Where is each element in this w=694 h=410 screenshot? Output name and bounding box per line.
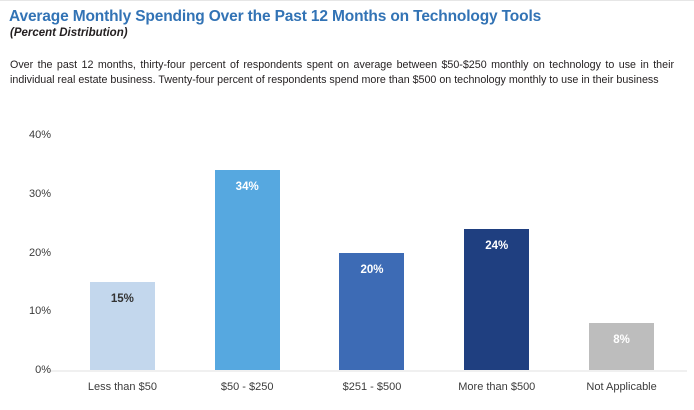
y-axis-tick: 30% (29, 188, 51, 200)
bar[interactable]: 20% (339, 253, 404, 371)
chart-description: Over the past 12 months, thirty-four per… (10, 58, 674, 89)
x-axis-label: $50 - $250 (185, 381, 310, 393)
bar-category: 8% (559, 135, 684, 370)
bar-chart: 40%30%20%10%0% 15%34%20%24%8% Less than … (0, 121, 694, 410)
bar-value-label: 15% (90, 293, 155, 305)
y-axis-tick: 40% (29, 129, 51, 141)
x-axis-label: Not Applicable (559, 381, 684, 393)
chart-page: Average Monthly Spending Over the Past 1… (0, 1, 694, 410)
x-axis-labels: Less than $50$50 - $250$251 - $500More t… (60, 381, 684, 393)
bar-category: 34% (185, 135, 310, 370)
axis-baseline (47, 370, 687, 372)
bar-value-label: 24% (464, 240, 529, 252)
x-axis-label: $251 - $500 (310, 381, 435, 393)
page-subtitle: (Percent Distribution) (10, 27, 128, 39)
bar-value-label: 20% (339, 264, 404, 276)
bar[interactable]: 24% (464, 229, 529, 370)
y-axis-tick: 10% (29, 305, 51, 317)
x-axis-label: Less than $50 (60, 381, 185, 393)
bar-series: 15%34%20%24%8% (60, 135, 684, 370)
x-axis-label: More than $500 (434, 381, 559, 393)
bar-category: 15% (60, 135, 185, 370)
page-title: Average Monthly Spending Over the Past 1… (9, 8, 541, 26)
y-axis-tick: 0% (35, 364, 51, 376)
bar[interactable]: 8% (589, 323, 654, 370)
bar-value-label: 34% (215, 181, 280, 193)
bar[interactable]: 34% (215, 170, 280, 370)
bar[interactable]: 15% (90, 282, 155, 370)
bar-value-label: 8% (589, 334, 654, 346)
bar-category: 20% (310, 135, 435, 370)
bar-category: 24% (434, 135, 559, 370)
plot-area: 40%30%20%10%0% 15%34%20%24%8% (60, 135, 684, 370)
y-axis-tick: 20% (29, 247, 51, 259)
